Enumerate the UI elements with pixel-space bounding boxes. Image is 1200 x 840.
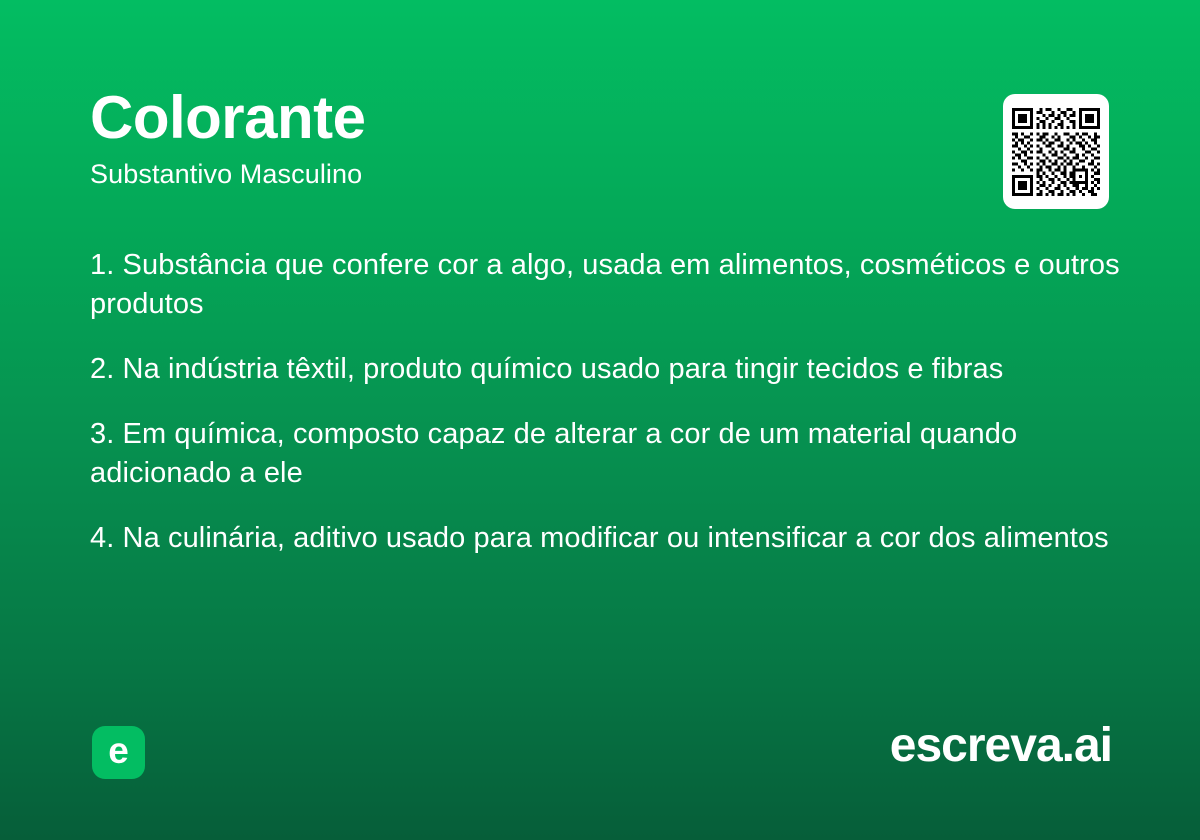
definition-list: 1. Substância que confere cor a algo, us… <box>90 246 1125 558</box>
escreva-logo-badge[interactable]: e <box>92 726 145 779</box>
logo-letter: e <box>108 732 129 769</box>
brand-wordmark: escreva.ai <box>890 722 1112 770</box>
definition-card: Colorante Substantivo Masculino <box>0 0 1200 840</box>
definition-item-2: 2. Na indústria têxtil, produto químico … <box>90 350 1125 389</box>
definition-item-1: 1. Substância que confere cor a algo, us… <box>90 246 1125 324</box>
card-header: Colorante Substantivo Masculino <box>90 86 970 190</box>
definition-item-4: 4. Na culinária, aditivo usado para modi… <box>90 519 1125 558</box>
page-title: Colorante <box>90 86 970 150</box>
word-class-label: Substantivo Masculino <box>90 158 970 190</box>
qr-code-icon <box>1012 108 1100 196</box>
definition-item-3: 3. Em química, composto capaz de alterar… <box>90 415 1125 493</box>
qr-code-container[interactable] <box>1003 94 1109 209</box>
